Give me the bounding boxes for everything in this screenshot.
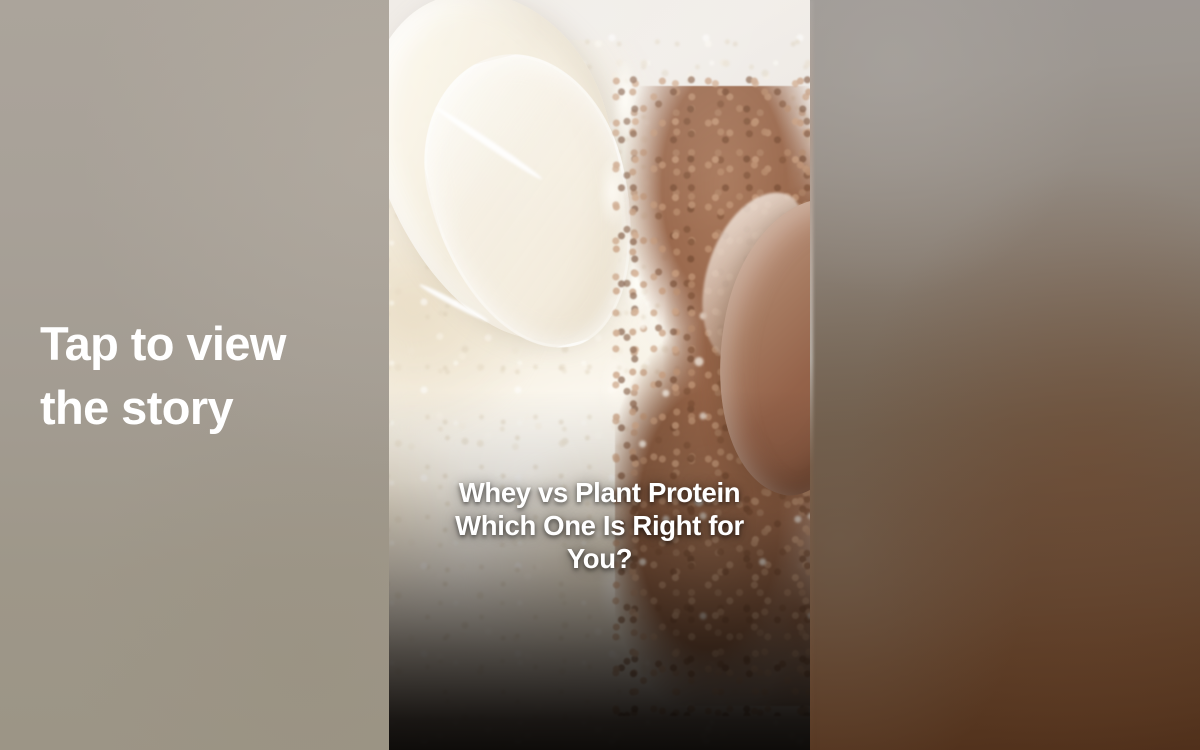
story-card[interactable]: WELLBEING NUTRITION W Whey vs Plant Prot…	[389, 0, 810, 750]
tap-to-view-story-label[interactable]: Tap to view the story	[40, 312, 370, 440]
protein-powder-photo	[389, 0, 810, 750]
story-preview-screen: Tap to view the story	[0, 0, 1200, 750]
story-title: Whey vs Plant Protein Which One Is Right…	[409, 476, 790, 575]
photo-gradient-overlay	[389, 0, 810, 750]
backdrop-right-panel	[808, 0, 1200, 750]
